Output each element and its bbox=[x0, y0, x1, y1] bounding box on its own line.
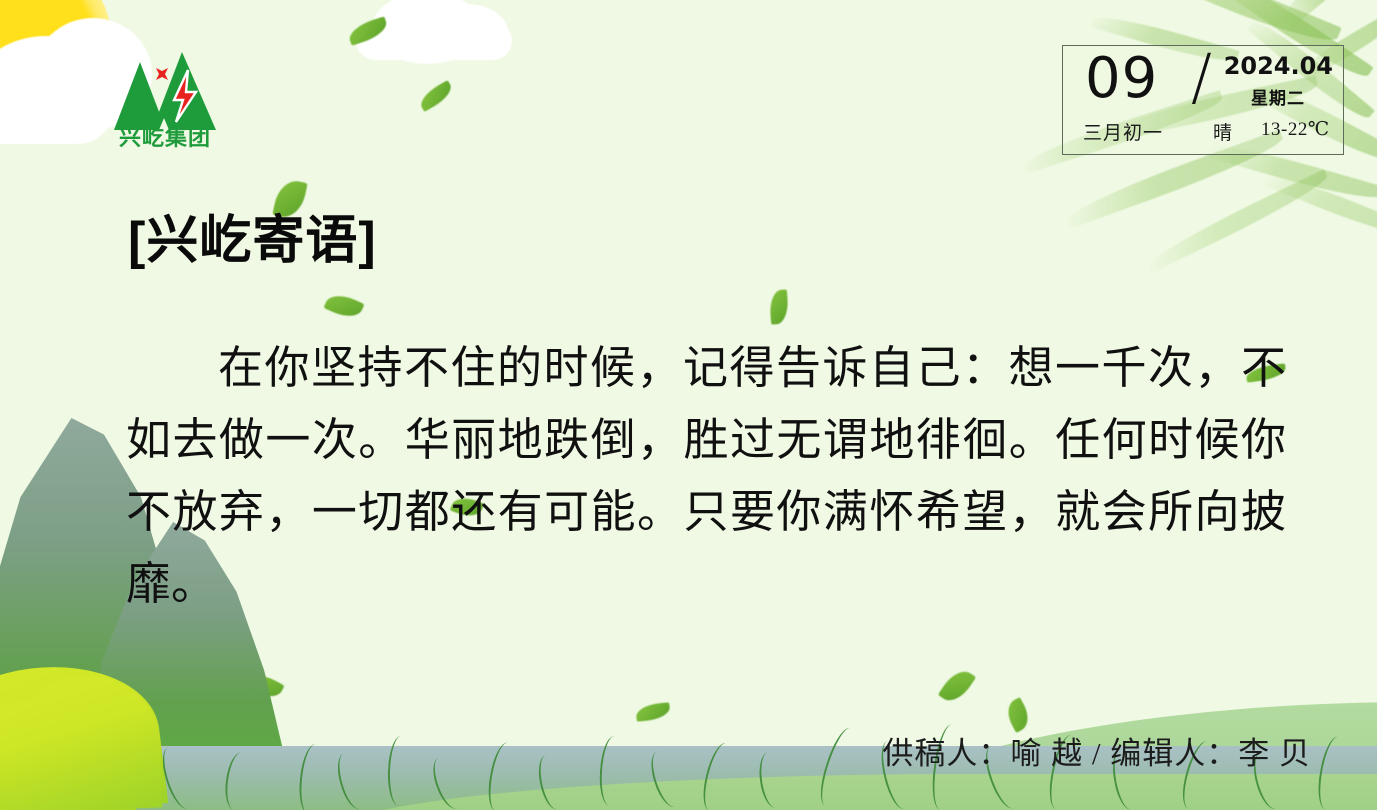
date-separator: / bbox=[1191, 41, 1212, 113]
date-card-top: 09 / 2024.04 星期二 bbox=[1063, 46, 1343, 118]
logo-wordmark: 兴屹集团 bbox=[104, 120, 226, 152]
grass-blade-icon bbox=[698, 740, 738, 810]
floating-leaf-icon bbox=[635, 702, 670, 721]
date-card: 09 / 2024.04 星期二 三月初一 晴 13-22℃ bbox=[1062, 45, 1344, 155]
weather-text: 晴 bbox=[1213, 118, 1232, 145]
floating-leaf-icon bbox=[243, 669, 284, 704]
floating-leaf-icon bbox=[938, 665, 976, 707]
floating-leaf-icon bbox=[346, 16, 390, 45]
date-day: 09 bbox=[1085, 48, 1158, 110]
hill-shape bbox=[0, 654, 168, 810]
hill-shape bbox=[330, 774, 1377, 810]
grass-blade-icon bbox=[756, 751, 788, 810]
temperature-range: 13-22℃ bbox=[1261, 118, 1330, 141]
willow-leaf-icon bbox=[1144, 169, 1332, 273]
grass-blade-icon bbox=[598, 735, 627, 807]
cloud-icon bbox=[0, 36, 116, 140]
grass-blade-icon bbox=[332, 750, 371, 810]
grass-blade-icon bbox=[222, 751, 254, 810]
date-card-bottom: 三月初一 晴 13-22℃ bbox=[1063, 118, 1343, 152]
date-weekday: 星期二 bbox=[1251, 84, 1305, 109]
hill-shape bbox=[10, 673, 163, 810]
date-year-month: 2024.04 bbox=[1224, 52, 1333, 80]
sun-icon bbox=[0, 0, 112, 138]
grass-blade-icon bbox=[296, 743, 327, 810]
floating-leaf-icon bbox=[769, 289, 789, 324]
willow-leaf-icon bbox=[1264, 169, 1377, 242]
message-body: 在你坚持不住的时候，记得告诉自己：想一千次，不如去做一次。华丽地跌倒，胜过无谓地… bbox=[126, 332, 1286, 620]
lunar-date: 三月初一 bbox=[1083, 118, 1163, 145]
grass-blade-icon bbox=[814, 724, 862, 809]
page-title: [兴屹寄语] bbox=[128, 198, 377, 273]
grass-blade-icon bbox=[1314, 734, 1350, 810]
grass-blade-icon bbox=[484, 740, 520, 810]
cloud-icon bbox=[356, 22, 512, 60]
credits-line: 供稿人：喻 越 / 编辑人：李 贝 bbox=[882, 728, 1311, 773]
grass-blade-icon bbox=[387, 736, 413, 807]
grass-blade-icon bbox=[646, 748, 687, 810]
floating-leaf-icon bbox=[323, 290, 364, 323]
cloud-icon bbox=[424, 4, 508, 60]
cloud-icon bbox=[372, 0, 482, 64]
grass-blade-icon bbox=[427, 754, 468, 810]
hill-shape bbox=[0, 692, 145, 810]
company-logo[interactable]: 兴屹集团 bbox=[104, 38, 226, 156]
cloud-icon bbox=[0, 72, 114, 144]
willow-leaf-icon bbox=[1150, 0, 1341, 52]
grass-blade-icon bbox=[157, 744, 200, 810]
willow-leaf-icon bbox=[1275, 0, 1377, 29]
floating-leaf-icon bbox=[416, 80, 455, 112]
grass-blade-icon bbox=[534, 752, 569, 810]
poster-canvas: 兴屹集团 09 / 2024.04 星期二 三月初一 晴 13-22℃ [兴屹寄… bbox=[0, 0, 1377, 810]
